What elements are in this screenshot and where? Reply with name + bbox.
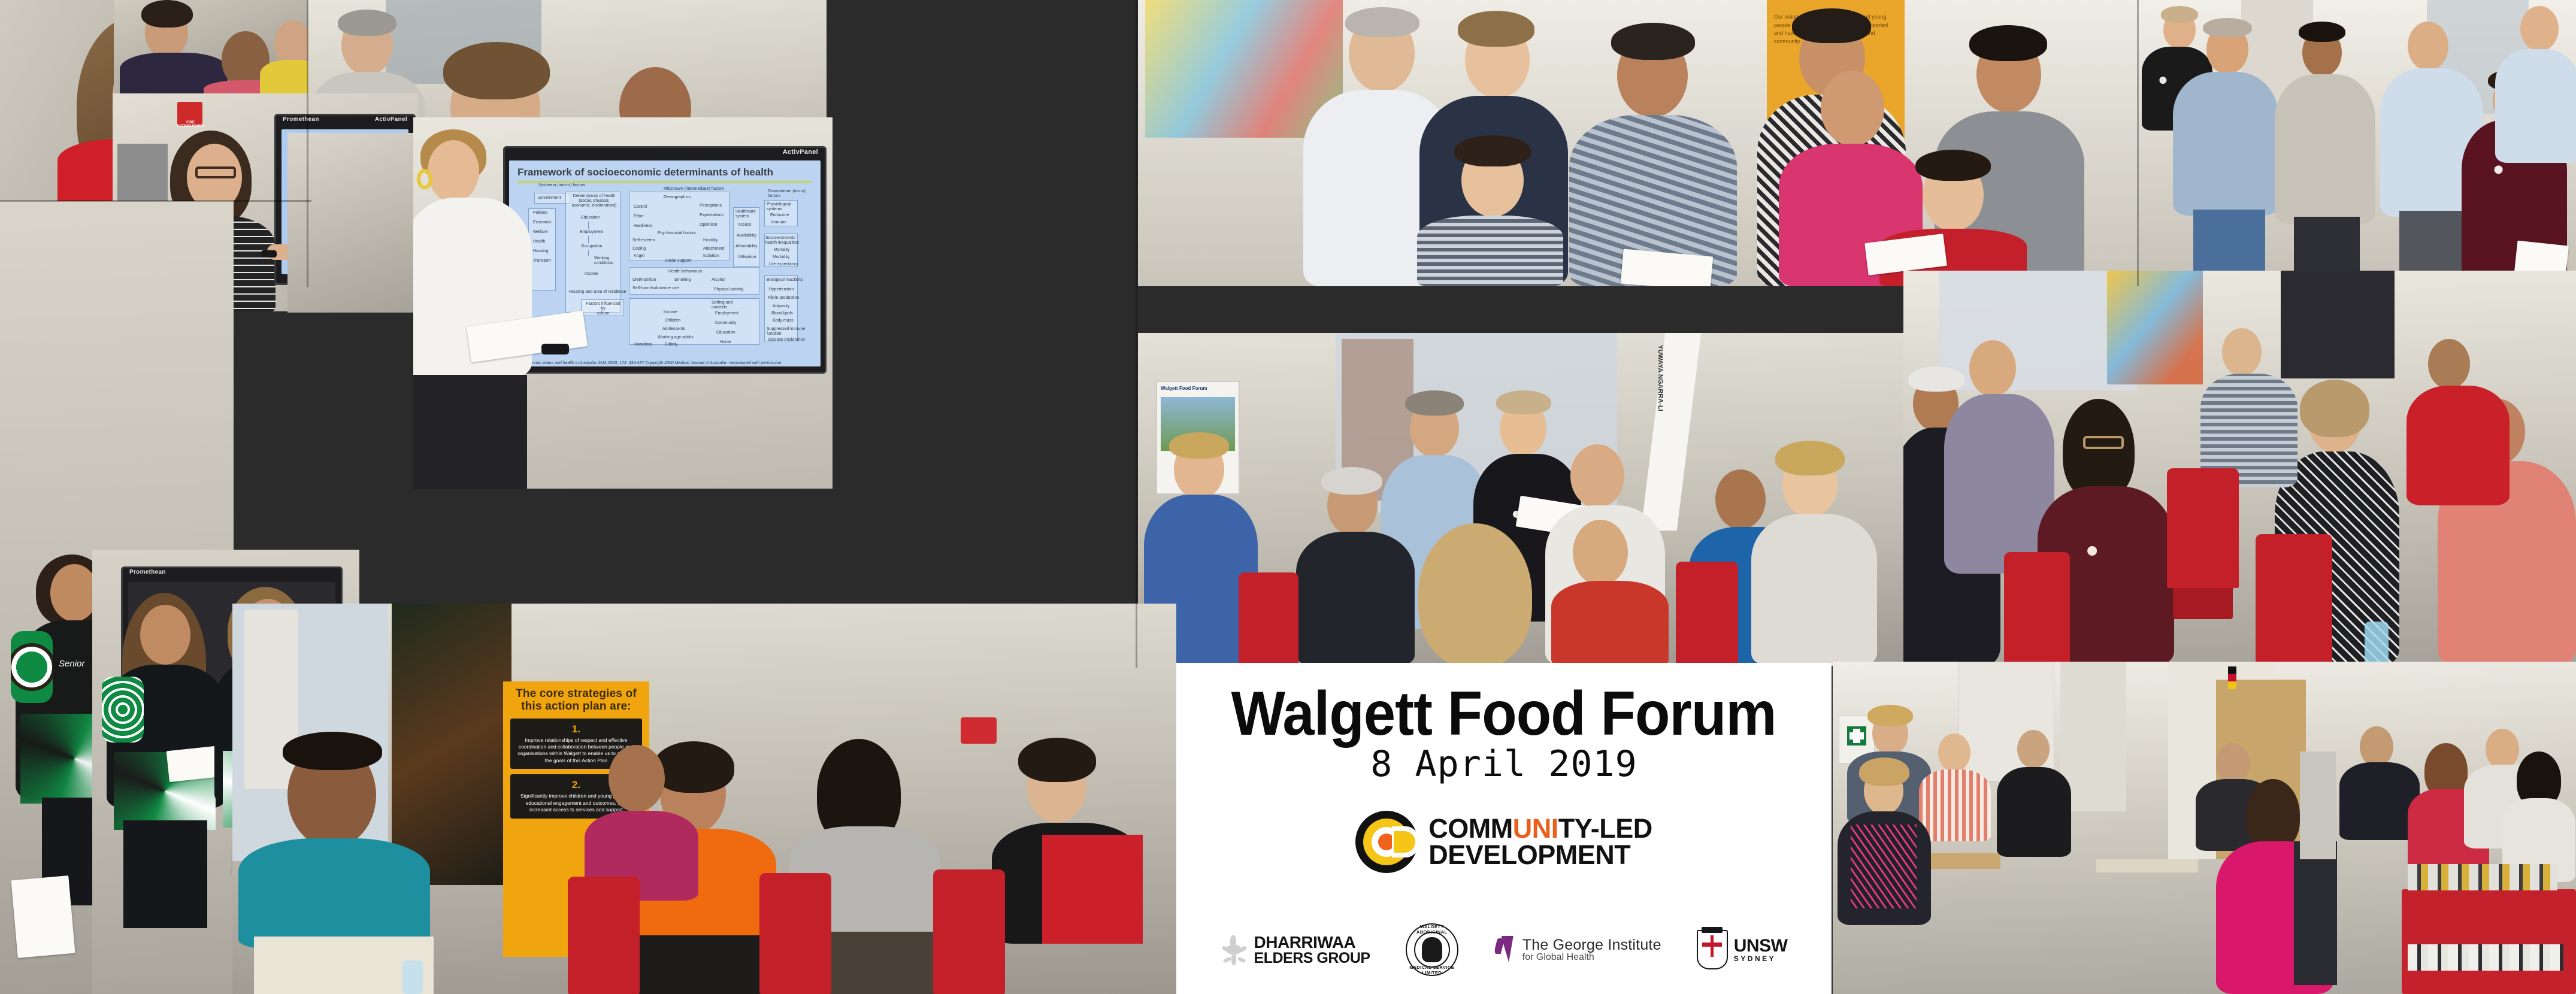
eyeglasses	[2083, 436, 2124, 449]
supplies-trolley	[2402, 889, 2576, 994]
aboriginal-pattern-sleeve	[11, 631, 53, 703]
community-led-development-mark-icon	[1355, 811, 1418, 873]
photo-seated-community-members: The core strategies of this action plan …	[232, 604, 1176, 994]
goanna-icon	[1221, 934, 1248, 965]
title-card: Walgett Food Forum 8 April 2019 COMMUNIT…	[1176, 663, 1832, 994]
collage-seam	[1136, 0, 1137, 668]
george-institute-tick-icon	[1494, 936, 1516, 963]
wams-arc-top: WALGETT ABORIGINAL	[1406, 924, 1458, 935]
photo-group-portrait-participants: Our vision is that Aboriginal children a…	[1138, 0, 2139, 286]
dharriwaa-elders-group-logo: DHARRIWAA ELDERS GROUP	[1221, 934, 1370, 966]
hoop-earring	[417, 169, 432, 189]
collage-seam	[2137, 0, 2139, 286]
aboriginal-artwork	[2107, 271, 2203, 384]
dharriwaa-line2: ELDERS GROUP	[1254, 951, 1370, 966]
collage-seam	[307, 0, 308, 287]
community-led-development-logo: COMMUNITY-LED DEVELOPMENT	[1355, 811, 1652, 873]
collage-seam	[0, 200, 311, 202]
unsw-line1: UNSW	[1734, 937, 1788, 955]
aboriginal-art-panel	[392, 604, 511, 885]
photo-presenter-framework-slide-main: ActivPanel Framework of socioeconomic de…	[413, 117, 833, 489]
eyeglasses	[195, 166, 236, 178]
photo-group-portrait-researchers	[2139, 0, 2576, 286]
photo-man-patterned-shirt	[114, 0, 317, 102]
page-title: Walgett Food Forum	[1231, 684, 1776, 744]
water-bottle	[402, 960, 423, 994]
walgett-aboriginal-medical-service-logo: WALGETT ABORIGINAL MEDICAL SERVICE LIMIT…	[1406, 923, 1458, 976]
photo-community-meeting-circle: Walgett Food Forum YUWAYA NGARRA-LI	[1138, 333, 1935, 666]
the-george-institute-logo: The George Institute for Global Health	[1494, 936, 1661, 963]
wams-arc-bottom: MEDICAL SERVICE LIMITED	[1406, 965, 1458, 975]
cld-line2: DEVELOPMENT	[1428, 842, 1652, 868]
tgi-line2: for Global Health	[1522, 953, 1661, 962]
community-led-development-wordmark: COMMUNITY-LED DEVELOPMENT	[1428, 816, 1652, 868]
photo-audience-red-chairs	[1903, 271, 2576, 666]
photo-workshop-room-wide	[1833, 662, 2576, 994]
walgett-food-forum-banner: thean	[0, 0, 2576, 994]
aboriginal-flag	[2228, 666, 2236, 689]
wams-roundel-icon: WALGETT ABORIGINAL MEDICAL SERVICE LIMIT…	[1406, 923, 1458, 976]
tgi-line1: The George Institute	[1522, 938, 1661, 953]
dharriwaa-line1: DHARRIWAA	[1254, 934, 1370, 951]
water-bottle	[2365, 622, 2389, 666]
sponsor-logo-strip: DHARRIWAA ELDERS GROUP WALGETT ABORIGINA…	[1176, 923, 1832, 976]
presenter-clicker	[261, 250, 277, 257]
fire-alarm	[961, 717, 997, 744]
unsw-sydney-logo: UNSW SYDNEY	[1697, 930, 1788, 969]
event-date: 8 April 2019	[1370, 746, 1637, 783]
unsw-line2: SYDNEY	[1734, 955, 1788, 962]
unsw-crest-icon	[1697, 930, 1728, 969]
presenter-clicker	[541, 344, 569, 354]
